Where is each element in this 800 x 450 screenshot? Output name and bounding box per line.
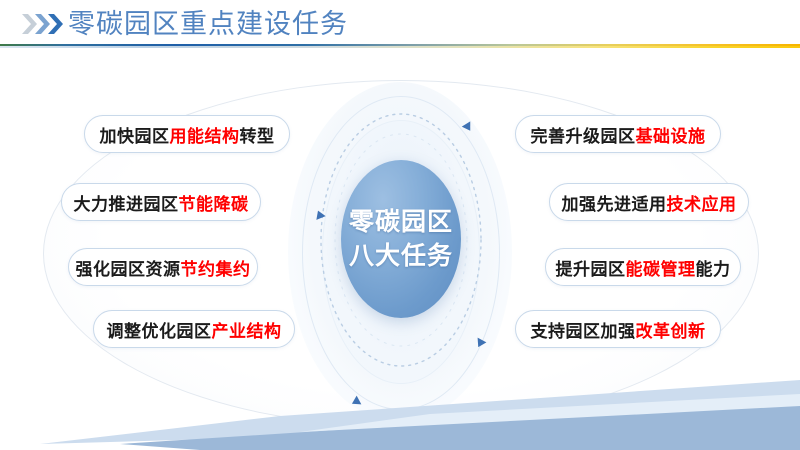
task-pill-8[interactable]: 支持园区加强改革创新 bbox=[515, 310, 721, 348]
task-4-highlight: 产业结构 bbox=[212, 317, 282, 342]
center-label-line1: 零碳园区 bbox=[349, 205, 453, 239]
task-5-pre: 完善升级园区 bbox=[531, 122, 636, 147]
task-pill-2[interactable]: 大力推进园区节能降碳 bbox=[61, 183, 261, 221]
task-1-post: 转型 bbox=[240, 122, 275, 147]
slide-canvas: 零碳园区重点建设任务 零碳园区 八大任务 bbox=[0, 0, 800, 450]
task-pill-7[interactable]: 提升园区能碳管理能力 bbox=[545, 248, 741, 286]
task-8-pre: 支持园区加强 bbox=[531, 317, 636, 342]
task-2-pre: 大力推进园区 bbox=[74, 190, 179, 215]
center-label-line2: 八大任务 bbox=[349, 239, 453, 273]
orbit-arrow-top-right-icon bbox=[462, 121, 475, 133]
task-5-highlight: 基础设施 bbox=[636, 122, 706, 147]
center-circle: 零碳园区 八大任务 bbox=[341, 160, 461, 318]
double-chevron-right-icon bbox=[22, 13, 68, 35]
task-3-pre: 强化园区资源 bbox=[76, 255, 181, 280]
orbit-arrow-bottom-left-icon bbox=[350, 396, 362, 409]
orbit-arrow-bottom-right-icon bbox=[474, 338, 487, 350]
task-pill-1[interactable]: 加快园区用能结构转型 bbox=[84, 115, 290, 153]
task-7-post: 能力 bbox=[696, 255, 731, 280]
diagram-stage: 零碳园区 八大任务 加快园区用能结构转型 大力推进园区节能降碳 强化园区资源节约… bbox=[0, 52, 800, 450]
center-circle-label: 零碳园区 八大任务 bbox=[341, 160, 461, 318]
task-2-highlight: 节能降碳 bbox=[179, 190, 249, 215]
task-8-highlight: 改革创新 bbox=[636, 317, 706, 342]
task-7-pre: 提升园区 bbox=[556, 255, 626, 280]
task-7-highlight: 能碳管理 bbox=[626, 255, 696, 280]
task-3-highlight: 节约集约 bbox=[181, 255, 251, 280]
page-title: 零碳园区重点建设任务 bbox=[68, 8, 348, 40]
task-4-pre: 调整优化园区 bbox=[107, 317, 212, 342]
slide-header: 零碳园区重点建设任务 bbox=[0, 0, 800, 52]
task-pill-4[interactable]: 调整优化园区产业结构 bbox=[93, 310, 295, 348]
task-pill-5[interactable]: 完善升级园区基础设施 bbox=[515, 115, 721, 153]
header-divider-soft bbox=[0, 46, 800, 48]
task-1-highlight: 用能结构 bbox=[170, 122, 240, 147]
task-pill-3[interactable]: 强化园区资源节约集约 bbox=[68, 248, 258, 286]
task-6-pre: 加强先进适用 bbox=[562, 190, 667, 215]
task-1-pre: 加快园区 bbox=[100, 122, 170, 147]
task-6-highlight: 技术应用 bbox=[667, 190, 737, 215]
task-pill-6[interactable]: 加强先进适用技术应用 bbox=[549, 183, 749, 221]
